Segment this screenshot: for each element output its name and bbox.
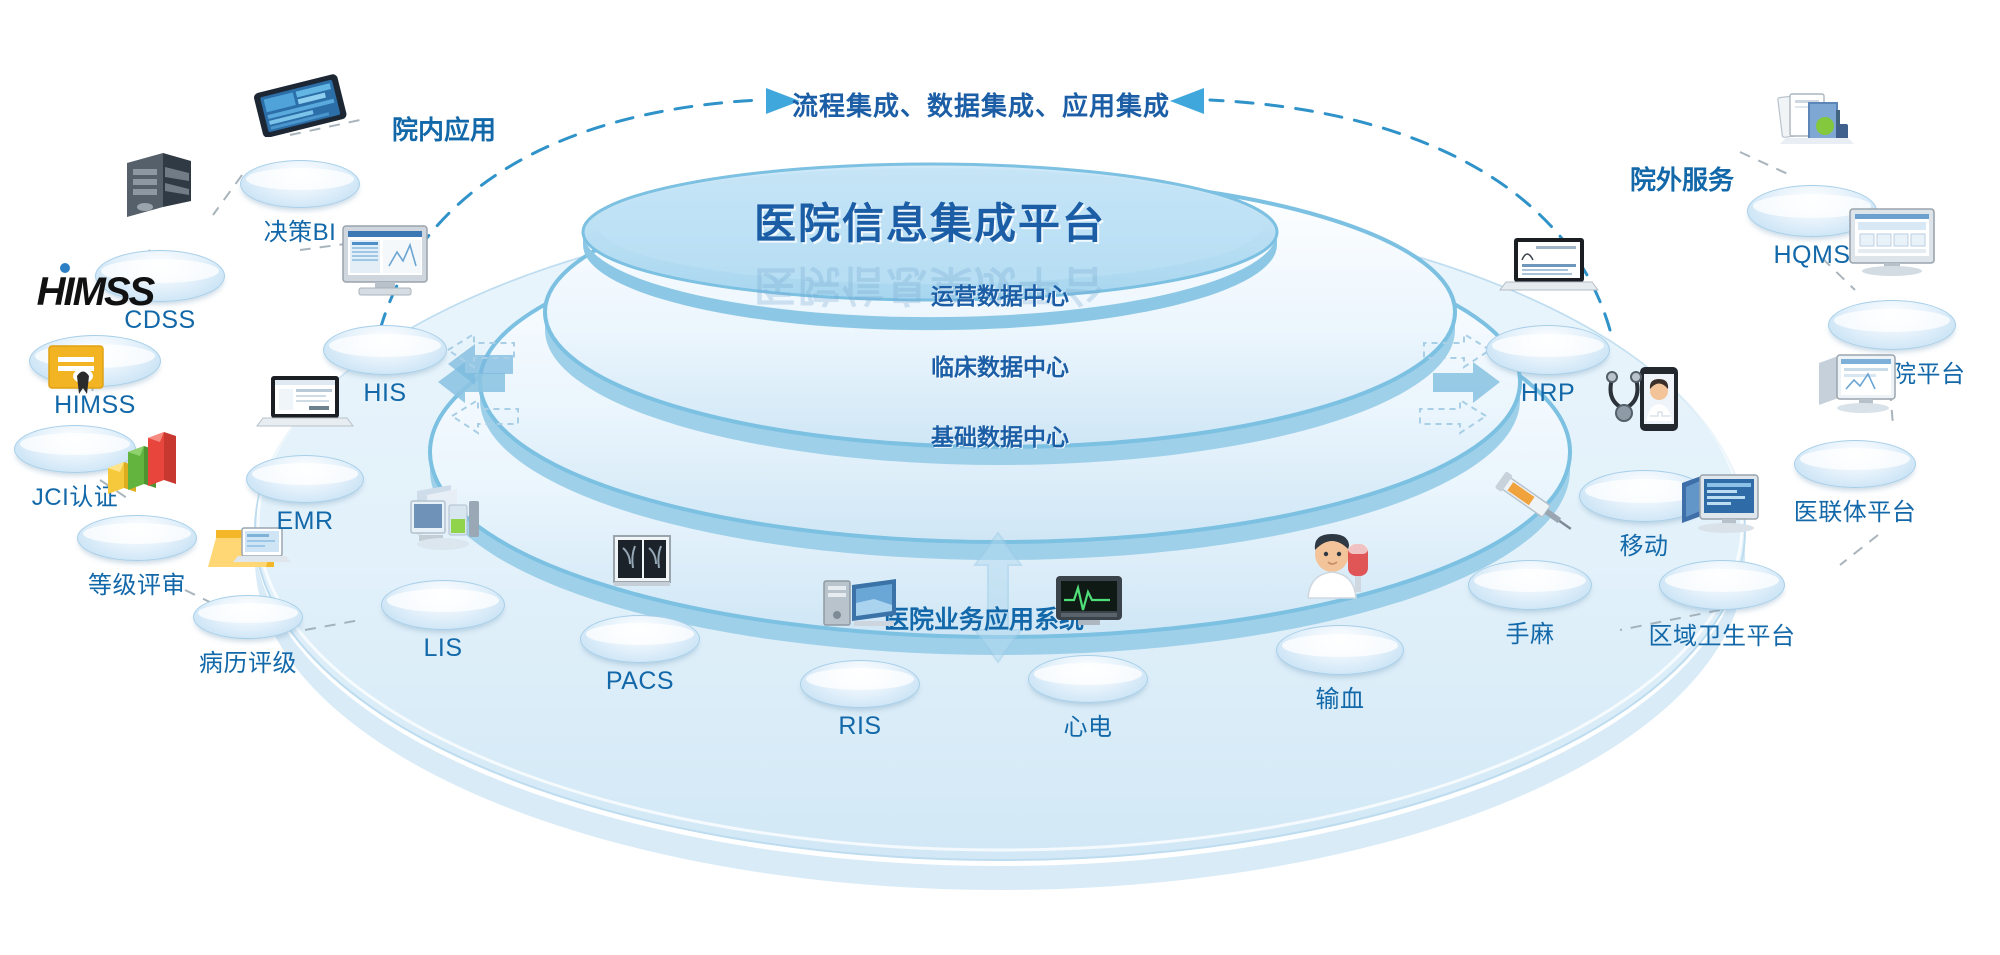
lab-analyzer-icon <box>389 481 497 562</box>
tablet-dashboard-icon <box>241 73 359 142</box>
laptop-icon <box>253 372 357 439</box>
node-pedestal <box>1828 300 1956 350</box>
node-pedestal <box>77 515 197 561</box>
node-pedestal <box>240 160 360 208</box>
anesthesia-syringe-icon <box>1476 463 1584 542</box>
node-label: HRP <box>1521 379 1575 408</box>
node-pedestal <box>193 595 303 639</box>
node-label: 手麻 <box>1506 614 1555 649</box>
node-label: 病历评级 <box>199 643 297 678</box>
region-label-external: 院外服务 <box>1630 160 1734 197</box>
node-label: 决策BI <box>264 212 337 247</box>
documents-folder-icon <box>1752 88 1872 167</box>
node-label: 等级评审 <box>88 565 186 600</box>
node-pedestal <box>1659 560 1785 610</box>
node-label: EMR <box>276 507 333 536</box>
server-rack-icon <box>105 145 215 230</box>
node-pedestal <box>323 325 447 375</box>
node-label: 移动 <box>1620 526 1669 561</box>
node-pedestal <box>580 615 700 663</box>
node-pedestal <box>381 580 505 630</box>
himss-logo-icon: HIMSS <box>30 260 160 321</box>
platform-title: 医院信息集成平台 <box>754 190 1106 251</box>
node-pedestal <box>246 455 364 503</box>
node-label: 区域卫生平台 <box>1649 616 1796 651</box>
layer-label-clinical: 临床数据中心 <box>931 348 1069 382</box>
blue-monitor-icon <box>1666 467 1778 544</box>
node-pedestal <box>800 660 920 708</box>
layer-label-foundation: 基础数据中心 <box>931 418 1069 452</box>
monitor-network-icon <box>1801 349 1909 424</box>
node-label: PACS <box>606 667 674 696</box>
mobile-stethoscope-icon <box>1584 361 1704 452</box>
node-label: LIS <box>423 634 462 663</box>
diagram-canvas: 医院信息集成平台 医院信息集成平台 运营数据中心 临床数据中心 基础数据中心 医… <box>0 0 2000 955</box>
integration-banner: 流程集成、数据集成、应用集成 <box>792 86 1170 123</box>
bar-chart-3d-icon <box>82 426 192 501</box>
node-label: 输血 <box>1316 679 1365 714</box>
ecg-monitor-icon <box>1038 570 1138 639</box>
region-label-internal: 院内应用 <box>392 110 496 147</box>
blood-transfusion-icon <box>1286 528 1394 607</box>
node-label: HIS <box>363 379 406 408</box>
arrow-head-left <box>1170 88 1204 114</box>
xray-film-icon <box>590 532 690 599</box>
vertical-flow-arrow <box>975 533 1021 662</box>
desktop-portal-icon <box>1836 205 1948 284</box>
node-pedestal <box>1028 655 1148 703</box>
node-pedestal <box>1794 440 1916 488</box>
data-exchange-icon-left <box>438 334 518 433</box>
node-label: 医联体平台 <box>1794 492 1917 527</box>
svg-text:HIMSS: HIMSS <box>37 270 156 314</box>
node-pedestal <box>1468 560 1592 610</box>
node-pedestal <box>1276 625 1404 675</box>
laptop-report-icon <box>1494 234 1602 307</box>
workstation-icon <box>808 573 912 644</box>
node-label: 心电 <box>1064 707 1113 742</box>
layer-label-operational: 运营数据中心 <box>931 277 1069 311</box>
certificate-seal-icon <box>27 340 123 409</box>
desktop-monitor-icon <box>333 222 437 307</box>
node-label: RIS <box>838 712 881 741</box>
